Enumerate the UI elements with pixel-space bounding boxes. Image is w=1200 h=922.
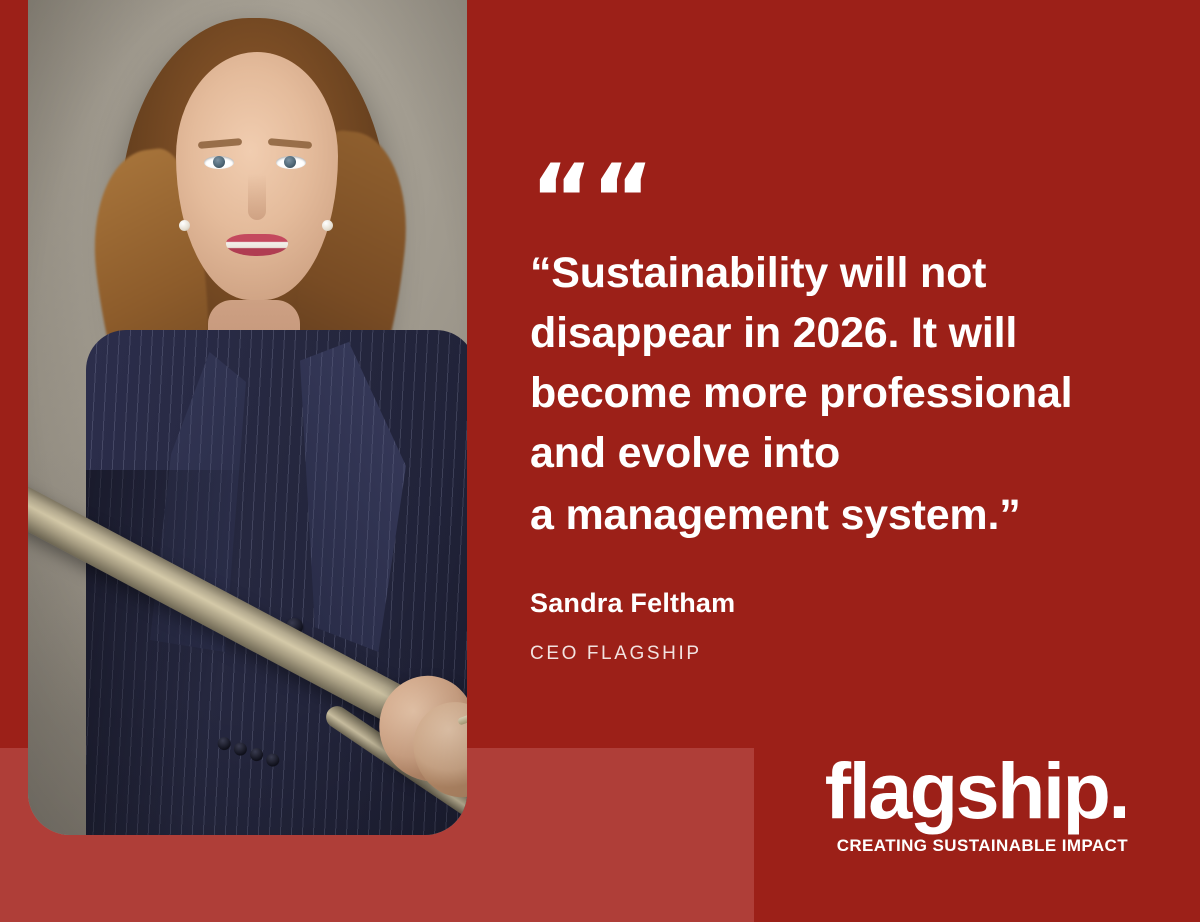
quote-line: “Sustainability will not — [530, 243, 1170, 303]
quote-line: and evolve into — [530, 423, 1170, 483]
quote-text: “Sustainability will not disappear in 20… — [530, 243, 1170, 545]
quote-line: disappear in 2026. It will — [530, 303, 1170, 363]
author-name: Sandra Feltham — [530, 588, 735, 619]
photo-vignette — [28, 0, 467, 835]
quote-line: a management system.” — [530, 485, 1170, 545]
author-role: CEO FLAGSHIP — [530, 643, 702, 665]
logo-tagline: CREATING SUSTAINABLE IMPACT — [825, 836, 1128, 856]
portrait-photo — [28, 0, 467, 835]
quote-card: ““ “Sustainability will not disappear in… — [0, 0, 1200, 922]
brand-logo: flagship. CREATING SUSTAINABLE IMPACT — [825, 748, 1128, 856]
portrait-photo-content — [28, 0, 467, 835]
logo-wordmark: flagship. — [825, 748, 1128, 834]
quotation-mark-icon: ““ — [530, 152, 652, 248]
quote-line: become more professional — [530, 363, 1170, 423]
